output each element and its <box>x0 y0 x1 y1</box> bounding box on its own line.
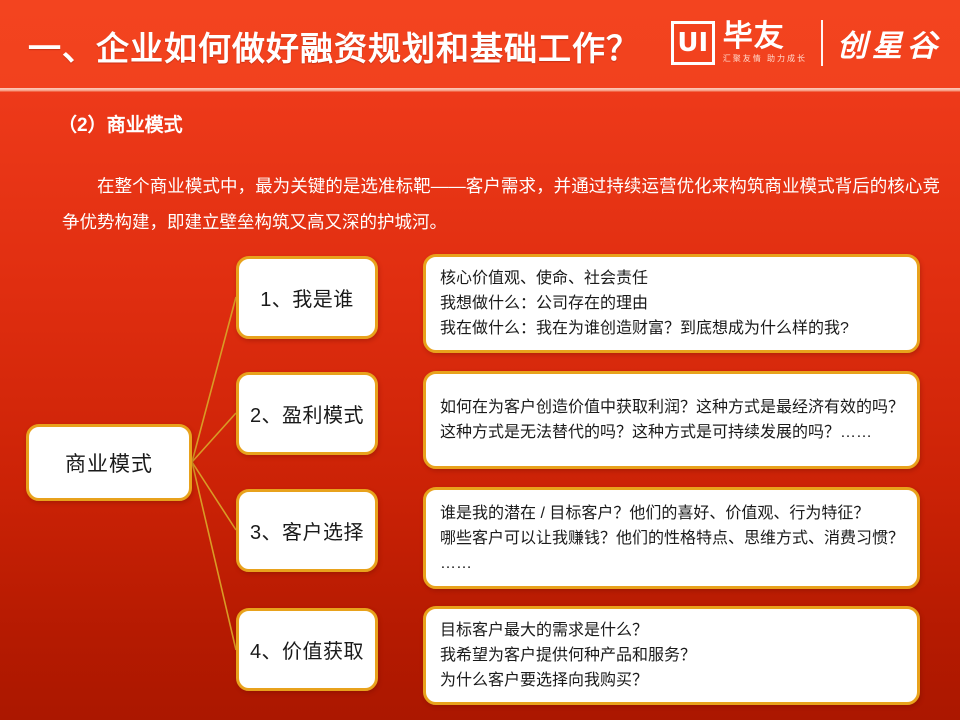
intro-paragraph: 在整个商业模式中，最为关键的是选准标靶——客户需求，并通过持续运营优化来构筑商业… <box>62 168 940 240</box>
diagram-detail-node-2[interactable]: 如何在为客户创造价值中获取利润？这种方式是最经济有效的吗？这种方式是无法替代的吗… <box>423 371 920 469</box>
detail-line: 目标客户最大的需求是什么？ <box>440 618 904 643</box>
diagram-branch-label-2: 2、盈利模式 <box>250 399 364 428</box>
diagram-detail-text-1: 核心价值观、使命、社会责任我想做什么：公司存在的理由我在做什么：我在为谁创造财富… <box>440 266 904 341</box>
diagram-branch-node-3[interactable]: 3、客户选择 <box>236 489 378 572</box>
diagram-detail-node-3[interactable]: 谁是我的潜在 / 目标客户？他们的喜好、价值观、行为特征？哪些客户可以让我赚钱？… <box>423 487 920 589</box>
diagram-detail-text-4: 目标客户最大的需求是什么？我希望为客户提供何种产品和服务？为什么客户要选择向我购… <box>440 618 904 693</box>
header-divider-rule <box>0 88 960 92</box>
detail-line: 我希望为客户提供何种产品和服务？ <box>440 643 904 668</box>
diagram-detail-node-4[interactable]: 目标客户最大的需求是什么？我希望为客户提供何种产品和服务？为什么客户要选择向我购… <box>423 606 920 705</box>
connector-line-1 <box>192 297 236 462</box>
detail-line: 为什么客户要选择向我购买？ <box>440 668 904 693</box>
connector-line-3 <box>192 462 236 530</box>
detail-line: 谁是我的潜在 / 目标客户？他们的喜好、价值观、行为特征？ <box>440 501 904 526</box>
diagram-branch-label-4: 4、价值获取 <box>250 635 364 664</box>
diagram-branch-label-1: 1、我是谁 <box>260 283 354 312</box>
connector-line-4 <box>192 462 236 650</box>
logo-divider <box>821 20 823 66</box>
diagram-detail-text-3: 谁是我的潜在 / 目标客户？他们的喜好、价值观、行为特征？哪些客户可以让我赚钱？… <box>440 501 904 576</box>
detail-line: 如何在为客户创造价值中获取利润？这种方式是最经济有效的吗？这种方式是无法替代的吗… <box>440 395 904 445</box>
diagram-root-label: 商业模式 <box>65 448 153 478</box>
logo-tagline: 汇聚友情 助力成长 <box>723 53 807 64</box>
diagram-detail-text-2: 如何在为客户创造价值中获取利润？这种方式是最经济有效的吗？这种方式是无法替代的吗… <box>440 395 904 445</box>
page-title: 一、企业如何做好融资规划和基础工作？ <box>28 22 640 70</box>
logo-sub-name: 创星谷 <box>837 21 942 65</box>
diagram-branch-node-4[interactable]: 4、价值获取 <box>236 608 378 691</box>
diagram-detail-node-1[interactable]: 核心价值观、使命、社会责任我想做什么：公司存在的理由我在做什么：我在为谁创造财富… <box>423 254 920 353</box>
detail-line: 核心价值观、使命、社会责任 <box>440 266 904 291</box>
diagram-branch-label-3: 3、客户选择 <box>250 516 364 545</box>
logo-mark-glyph: UI <box>677 30 708 56</box>
diagram-branch-node-1[interactable]: 1、我是谁 <box>236 256 378 339</box>
diagram-branch-node-2[interactable]: 2、盈利模式 <box>236 372 378 455</box>
detail-line: 哪些客户可以让我赚钱？他们的性格特点、思维方式、消费习惯？ …… <box>440 526 904 576</box>
diagram-root-node[interactable]: 商业模式 <box>26 424 192 501</box>
brand-logo: UI 毕友 汇聚友情 助力成长 创星谷 <box>671 14 942 72</box>
logo-name-block: 毕友 汇聚友情 助力成长 <box>723 20 807 66</box>
connector-line-2 <box>192 413 236 462</box>
detail-line: 我想做什么：公司存在的理由 <box>440 291 904 316</box>
slide-canvas: 一、企业如何做好融资规划和基础工作？ UI 毕友 汇聚友情 助力成长 创星谷 （… <box>0 0 960 720</box>
detail-line: 我在做什么：我在为谁创造财富？到底想成为什么样的我? <box>440 316 904 341</box>
logo-name: 毕友 <box>723 22 807 53</box>
logo-mark-icon: UI <box>671 21 715 65</box>
section-heading: （2）商业模式 <box>58 110 183 137</box>
